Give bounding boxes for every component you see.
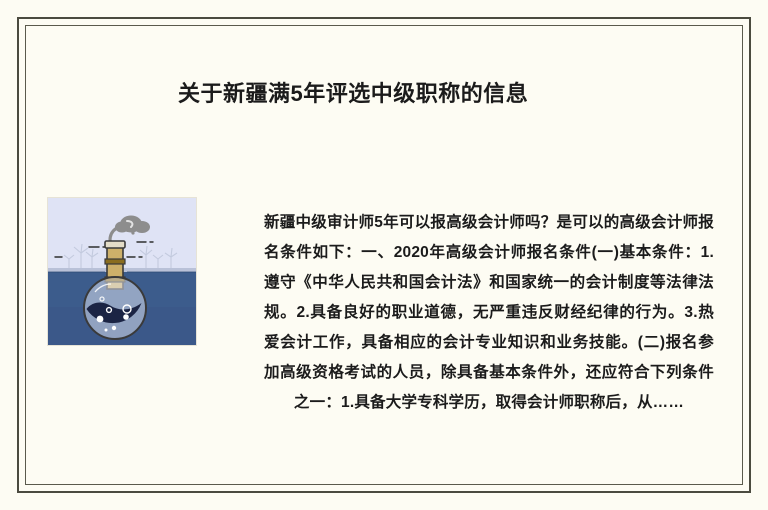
illustration-svg bbox=[47, 197, 197, 346]
flask-in-water-illustration bbox=[47, 197, 197, 346]
cork-top bbox=[105, 241, 125, 248]
cork-band-upper bbox=[105, 259, 125, 264]
page-root: 关于新疆满5年评选中级职称的信息 bbox=[0, 0, 768, 510]
article-body: 新疆中级审计师5年可以报高级会计师吗？是可以的高级会计师报名条件如下：一、202… bbox=[264, 208, 714, 418]
page-title: 关于新疆满5年评选中级职称的信息 bbox=[178, 76, 528, 108]
